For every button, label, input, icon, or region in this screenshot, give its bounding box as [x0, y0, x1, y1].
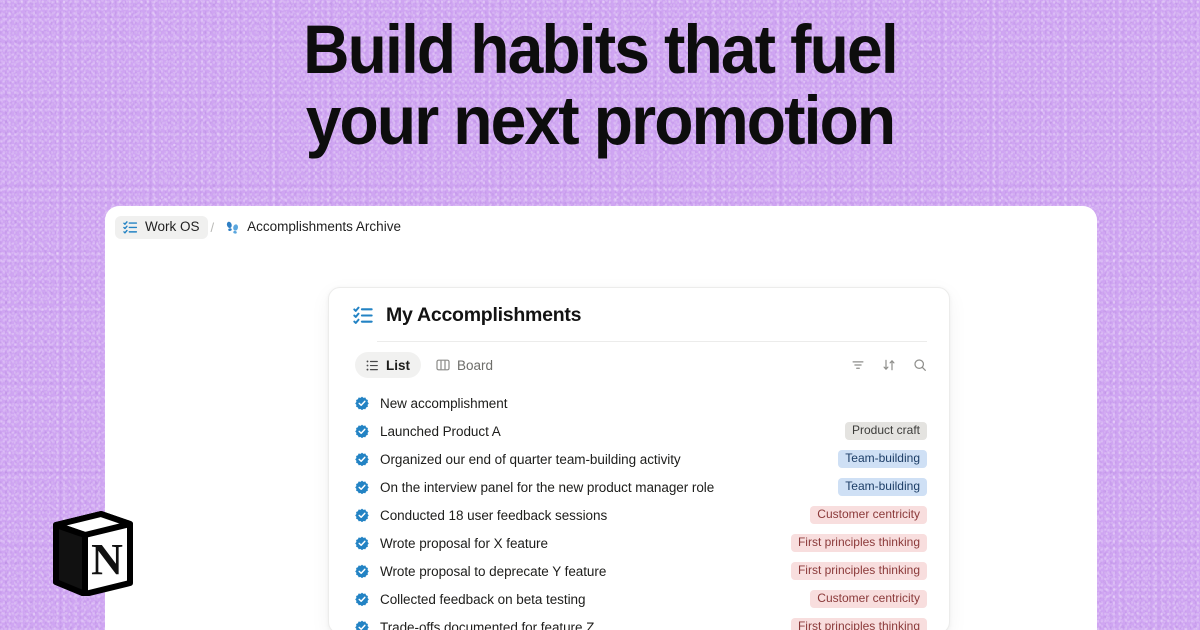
verified-check-icon	[355, 536, 369, 550]
status-badge[interactable]: Product craft	[845, 422, 927, 441]
breadcrumb-item-accomplishments-archive[interactable]: Accomplishments Archive	[217, 216, 409, 239]
row-title: Trade-offs documented for feature Z	[380, 620, 594, 630]
status-badge[interactable]: First principles thinking	[791, 534, 927, 553]
tab-label: List	[386, 358, 410, 373]
verified-check-icon	[355, 396, 369, 410]
row-title: Wrote proposal for X feature	[380, 536, 548, 551]
status-badge[interactable]: Team-building	[838, 478, 927, 497]
notion-logo-letter: N	[91, 535, 123, 584]
row-title: Wrote proposal to deprecate Y feature	[380, 564, 606, 579]
headline-line-2: your next promotion	[42, 85, 1158, 156]
status-badge[interactable]: Customer centricity	[810, 506, 927, 525]
view-tabs: List Board	[355, 352, 504, 378]
table-row[interactable]: Wrote proposal for X feature First princ…	[355, 529, 927, 557]
table-row[interactable]: On the interview panel for the new produ…	[355, 473, 927, 501]
filter-icon[interactable]	[851, 358, 865, 372]
breadcrumb: Work OS / Accomplishments Archive	[105, 206, 409, 248]
row-title: Launched Product A	[380, 424, 501, 439]
verified-check-icon	[355, 592, 369, 606]
page-title: My Accomplishments	[386, 306, 581, 326]
view-toolbar: List Board	[329, 342, 949, 380]
breadcrumb-separator: /	[208, 220, 218, 235]
tab-list[interactable]: List	[355, 352, 421, 378]
status-badge[interactable]: Customer centricity	[810, 590, 927, 609]
table-row[interactable]: Trade-offs documented for feature Z Firs…	[355, 613, 927, 630]
verified-check-icon	[355, 452, 369, 466]
sort-icon[interactable]	[882, 358, 896, 372]
search-icon[interactable]	[913, 358, 927, 372]
status-badge[interactable]: First principles thinking	[791, 562, 927, 581]
list-icon	[366, 359, 379, 372]
verified-check-icon	[355, 508, 369, 522]
verified-check-icon	[355, 480, 369, 494]
accomplishments-list: New accomplishment Launched Product A Pr…	[329, 380, 949, 630]
breadcrumb-item-work-os[interactable]: Work OS	[115, 216, 208, 239]
toolbar-actions	[851, 358, 927, 372]
status-badge[interactable]: Team-building	[838, 450, 927, 469]
breadcrumb-label: Work OS	[145, 220, 200, 234]
app-window: Work OS / Accomplishments Archive	[105, 206, 1097, 630]
table-row[interactable]: New accomplishment	[355, 389, 927, 417]
table-row[interactable]: Conducted 18 user feedback sessions Cust…	[355, 501, 927, 529]
status-badge[interactable]: First principles thinking	[791, 618, 927, 630]
checklist-icon	[353, 305, 374, 326]
row-title: Organized our end of quarter team-buildi…	[380, 452, 681, 467]
table-row[interactable]: Collected feedback on beta testing Custo…	[355, 585, 927, 613]
verified-check-icon	[355, 620, 369, 630]
breadcrumb-label: Accomplishments Archive	[247, 220, 401, 234]
page-card: My Accomplishments	[328, 287, 950, 630]
tab-board[interactable]: Board	[425, 352, 504, 378]
page-headline: Build habits that fuel your next promoti…	[42, 14, 1158, 156]
notion-logo: N	[49, 508, 137, 596]
checklist-icon	[123, 220, 138, 235]
row-title: Conducted 18 user feedback sessions	[380, 508, 607, 523]
row-title: Collected feedback on beta testing	[380, 592, 585, 607]
row-title: New accomplishment	[380, 396, 507, 411]
headline-line-1: Build habits that fuel	[42, 14, 1158, 85]
footprints-emoji-icon	[225, 220, 240, 235]
table-row[interactable]: Launched Product A Product craft	[355, 417, 927, 445]
page-title-row: My Accomplishments	[329, 288, 949, 326]
board-icon	[436, 358, 450, 372]
verified-check-icon	[355, 564, 369, 578]
row-title: On the interview panel for the new produ…	[380, 480, 714, 495]
table-row[interactable]: Organized our end of quarter team-buildi…	[355, 445, 927, 473]
tab-label: Board	[457, 358, 493, 373]
table-row[interactable]: Wrote proposal to deprecate Y feature Fi…	[355, 557, 927, 585]
verified-check-icon	[355, 424, 369, 438]
